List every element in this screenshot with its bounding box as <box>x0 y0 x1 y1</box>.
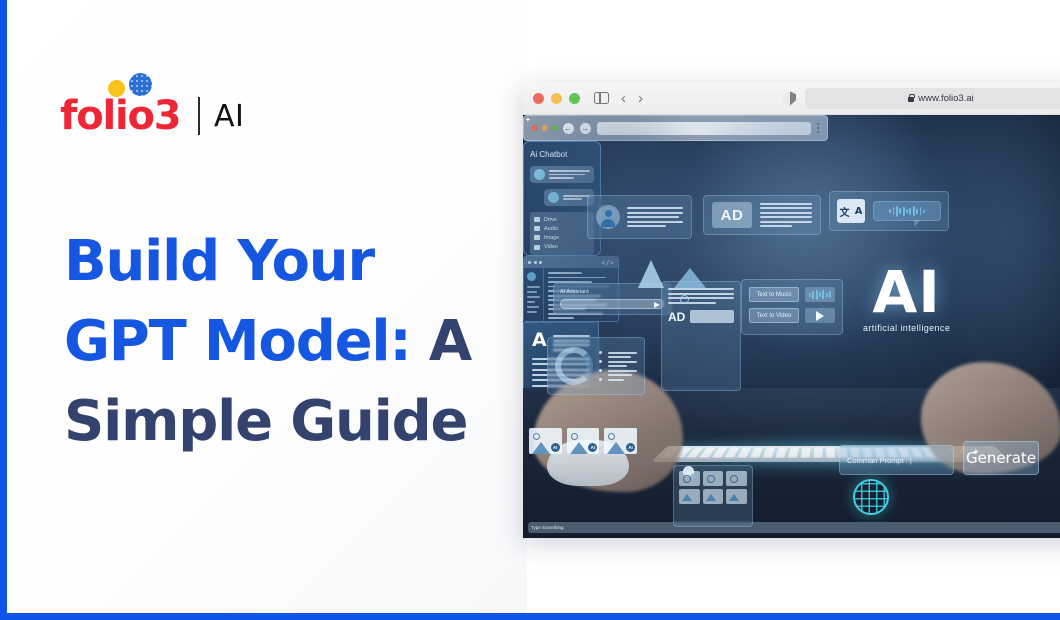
ai-badge: AI <box>551 443 560 452</box>
analytics-donut-card[interactable] <box>547 337 645 395</box>
play-thumb[interactable] <box>805 308 835 323</box>
logo-wordmark: folio3 <box>60 93 180 139</box>
logo-ai-suffix: AI <box>214 99 244 134</box>
generate-button[interactable]: ✦ Generate <box>963 441 1039 475</box>
profile-text-lines <box>627 207 683 227</box>
translate-icon: 文A <box>837 199 865 223</box>
text-to-video-row: Text to Video <box>749 308 835 323</box>
ad-text-lines <box>760 203 812 228</box>
file-thumb-doc[interactable] <box>726 471 747 486</box>
bubble-tail <box>914 220 921 227</box>
file-thumbnail-grid <box>679 471 747 504</box>
image-ad-card[interactable]: AD <box>661 281 741 391</box>
headline-line-1: Build Your <box>64 222 484 302</box>
poster-canvas: folio3 AI Build Your GPT Model: A Simple… <box>0 0 1060 620</box>
lock-icon <box>908 97 914 102</box>
headline-line-2: GPT Model: A <box>64 302 484 382</box>
text-to-music-row: Text to Music <box>749 287 835 302</box>
close-window-icon[interactable] <box>533 93 544 104</box>
privacy-shield-icon[interactable] <box>783 91 796 106</box>
avatar <box>596 205 620 229</box>
ai-assistant-label: AI Assistant <box>560 289 664 295</box>
browser-toolbar: ‹ › www.folio3.ai <box>523 82 1060 115</box>
globe-icon <box>853 479 889 515</box>
cloud-upload-card[interactable] <box>673 465 753 527</box>
image-caption-lines <box>668 288 734 304</box>
command-prompt-field[interactable]: Comman Prompt : | <box>839 445 954 475</box>
ai-assistant-slider[interactable] <box>560 299 664 309</box>
logo-divider <box>198 97 200 135</box>
donut-chart-icon <box>555 347 593 385</box>
left-content-panel: folio3 AI Build Your GPT Model: A Simple… <box>7 0 527 620</box>
ai-heading-block: AI artificial intelligence <box>863 265 950 333</box>
chatbot-input[interactable]: Type Something ➤ <box>528 522 1060 533</box>
profile-card[interactable] <box>587 195 692 239</box>
waveform-thumb <box>805 287 835 302</box>
slider-handle[interactable] <box>654 302 660 308</box>
headline-line-2-navy: A <box>411 309 471 374</box>
file-thumb-image[interactable] <box>703 489 724 504</box>
file-thumb-image[interactable] <box>726 489 747 504</box>
address-bar[interactable]: www.folio3.ai <box>805 88 1060 109</box>
image-ad-row: AD <box>668 310 734 324</box>
text-to-media-card[interactable]: Text to Music Text to Video <box>741 279 843 335</box>
back-button[interactable]: ‹ <box>621 91 626 106</box>
sparkle-icon: ✦ <box>525 116 531 124</box>
headline-line-2-blue: GPT Model: <box>64 309 411 374</box>
brand-logo[interactable]: folio3 AI <box>60 96 244 136</box>
file-thumb-doc[interactable] <box>679 471 700 486</box>
ai-badge: AI <box>626 443 635 452</box>
logo-mark: folio3 <box>60 96 180 136</box>
image-ad-label: AD <box>668 310 685 324</box>
ai-badge: AI <box>588 443 597 452</box>
hero-photo: AD 文A <box>523 115 1060 538</box>
headline-line-1-text: Build Your <box>64 229 374 294</box>
ad-banner-card[interactable]: AD <box>703 195 821 235</box>
sparkle-icon: ✦ <box>972 447 980 458</box>
minimize-window-icon[interactable] <box>551 93 562 104</box>
translate-speech-bubble <box>873 201 941 221</box>
forward-button[interactable]: › <box>638 91 643 106</box>
ai-subheading: artificial intelligence <box>863 323 950 333</box>
window-controls[interactable] <box>533 93 580 104</box>
sidebar-toggle-button[interactable] <box>594 92 609 104</box>
file-thumb-image[interactable] <box>679 489 700 504</box>
address-bar-url: www.folio3.ai <box>918 93 973 104</box>
audio-waveform-icon <box>889 205 925 217</box>
generated-image-thumb[interactable]: AI <box>604 428 637 454</box>
headline-line-3: Simple Guide <box>64 382 484 462</box>
command-prompt-text: Comman Prompt : | <box>847 456 912 465</box>
generated-image-thumb[interactable]: AI <box>529 428 562 454</box>
translate-card[interactable]: 文A <box>829 191 949 231</box>
ai-heading: AI <box>863 265 950 320</box>
play-icon <box>816 311 824 321</box>
file-thumb-doc[interactable] <box>703 471 724 486</box>
chatbot-input-placeholder: Type Something <box>531 525 1060 530</box>
generated-image-thumb[interactable]: AI <box>567 428 600 454</box>
maximize-window-icon[interactable] <box>569 93 580 104</box>
browser-window: ‹ › www.folio3.ai <box>523 82 1060 538</box>
ad-label: AD <box>712 202 752 228</box>
legend-dots <box>599 351 602 381</box>
sidebar-icon <box>594 92 609 104</box>
page-title: Build Your GPT Model: A Simple Guide <box>64 222 484 462</box>
donut-legend-lines <box>608 352 637 381</box>
headline-line-3-text: Simple Guide <box>64 389 467 454</box>
text-to-video-button[interactable]: Text to Video <box>749 308 799 323</box>
logo-yellow-dot-icon <box>108 80 125 97</box>
text-to-music-button[interactable]: Text to Music <box>749 287 799 302</box>
logo-blue-dot-icon <box>129 73 152 96</box>
